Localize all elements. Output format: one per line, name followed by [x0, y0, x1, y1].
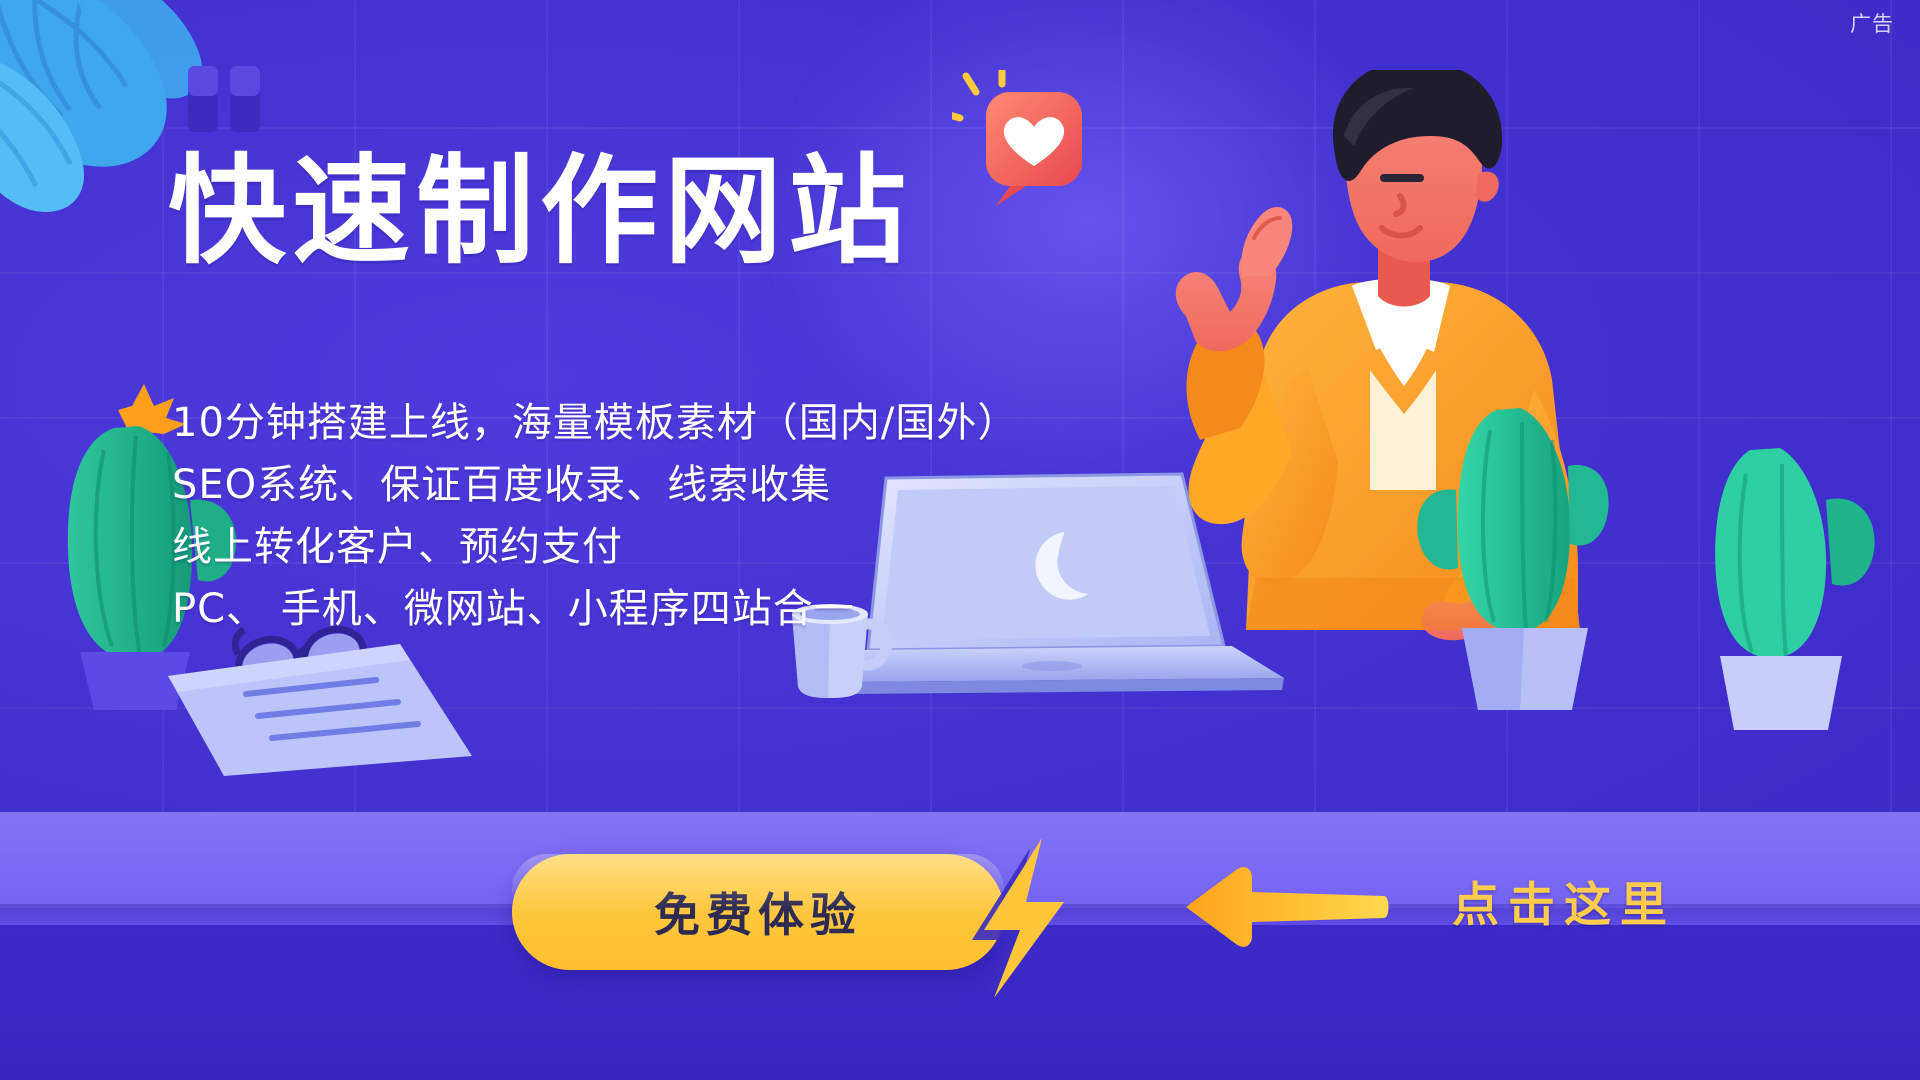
page-title: 快速制作网站 — [168, 148, 912, 275]
quote-mark-icon — [186, 62, 278, 136]
feature-line-2: SEO系统、保证百度收录、线索收集 — [172, 454, 1018, 516]
feature-line-4: PC、 手机、微网站、小程序四站合一 — [172, 578, 1018, 640]
click-here-label: 点击这里 — [1452, 866, 1676, 935]
free-trial-button[interactable]: 免费体验 — [512, 854, 1004, 970]
ad-label: 广告 — [1850, 8, 1894, 38]
lightning-bolt-icon — [968, 838, 1078, 998]
ad-banner[interactable]: 广告 — [0, 0, 1920, 1080]
feature-list: 10分钟搭建上线，海量模板素材（国内/国外） SEO系统、保证百度收录、线索收集… — [172, 392, 1018, 640]
plant-far-right-illustration — [1690, 430, 1920, 730]
feature-line-1: 10分钟搭建上线，海量模板素材（国内/国外） — [172, 392, 1018, 454]
cactus-right-illustration — [1400, 380, 1650, 710]
heart-notification-icon — [952, 70, 1112, 210]
feature-line-3: 线上转化客户、预约支付 — [172, 516, 1018, 578]
arrow-left-icon — [1180, 862, 1390, 952]
papers-illustration — [150, 636, 480, 776]
